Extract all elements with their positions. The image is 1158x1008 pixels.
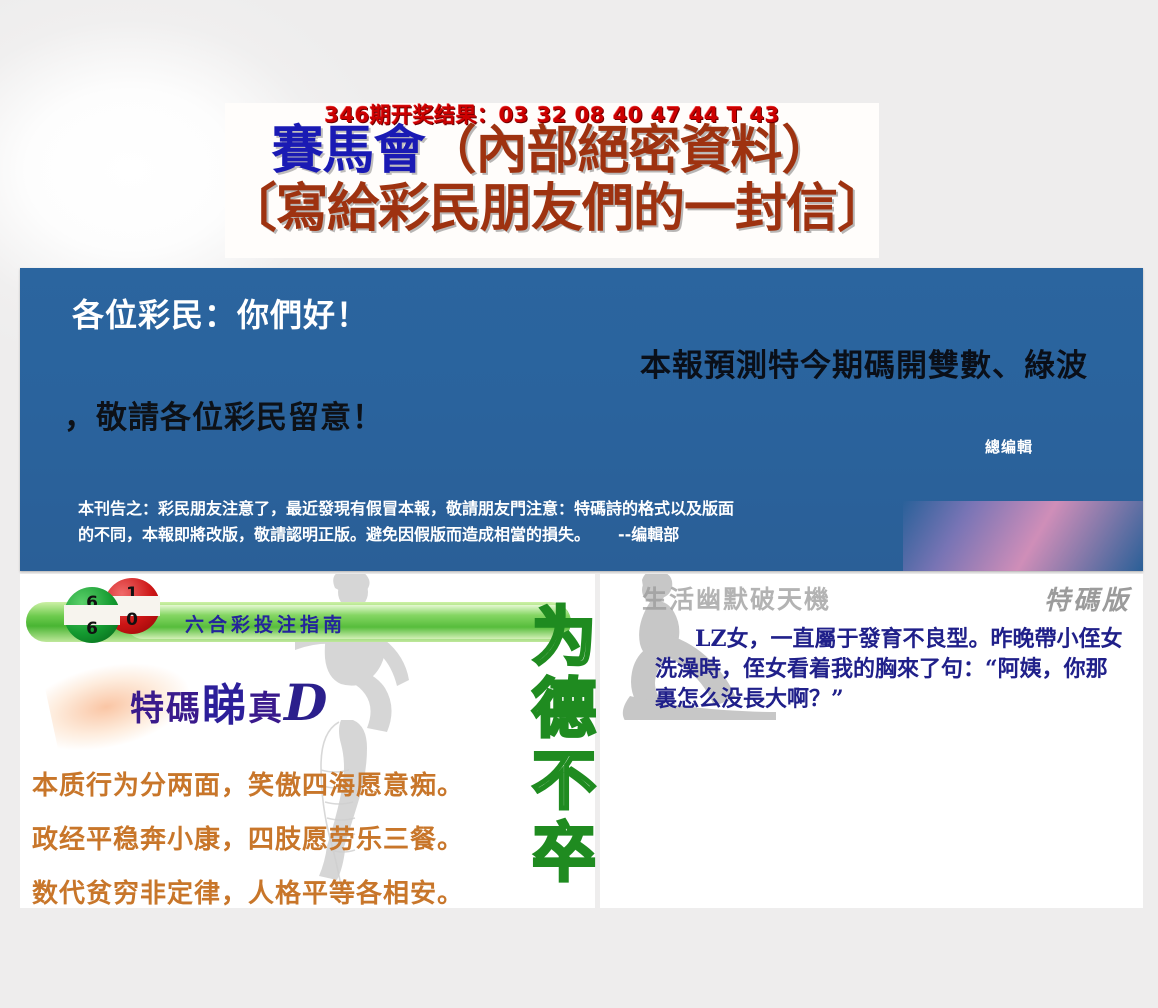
betting-guide-label: 六合彩投注指南 (185, 610, 346, 637)
letter-notice: 本刊告之：彩民朋友注意了，最近發現有假冒本報，敬請朋友門注意：特碼詩的格式以及版… (78, 496, 1118, 548)
poster-page: 346期开奖结果：03 32 08 40 47 44 T 43 賽馬會（內部絕密… (0, 0, 1158, 1008)
brand-mid-char: 真 (248, 689, 284, 729)
poem-line: 政经平稳奔小康，四肢愿劳乐三餐。 (32, 813, 552, 867)
notice-line-2: 的不同，本報即將改版，敬請認明正版。避免因假版而造成相當的損失。 (78, 525, 590, 544)
poem-line: 数代贫穷非定律，人格平等各相安。 (32, 867, 552, 908)
vertical-slogan-char: 不 (528, 746, 600, 818)
headline-title-blue: 賽馬會 (271, 121, 424, 181)
letter-signature: 總编輯 (985, 436, 1033, 457)
lottery-result-line: 346期开奖结果：03 32 08 40 47 44 T 43 (225, 99, 879, 129)
vertical-slogan-char: 为 (528, 602, 600, 674)
edition-label: 特碼版 (1044, 580, 1131, 617)
notice-department: --编輯部 (618, 525, 679, 544)
letter-greeting: 各位彩民：你們好！ (72, 290, 369, 336)
letter-attention: ，敬請各位彩民留意！ (64, 392, 384, 437)
humor-card: 生活幽默破天機 特碼版 LZ女，一直屬于發育不良型。昨晚帶小侄女洗澡時，侄女看着… (600, 574, 1143, 908)
brand-lockup: 特碼睇真D (130, 669, 329, 733)
notice-line-2-wrap: 的不同，本報即將改版，敬請認明正版。避免因假版而造成相當的損失。--编輯部 (78, 522, 1118, 548)
headline-title-row: 賽馬會（內部絕密資料） (225, 125, 879, 177)
brand-dee-letter: D (284, 673, 329, 732)
headline-title-red: （內部絕密資料） (425, 121, 833, 181)
vertical-slogan: 为 德 不 卒 (528, 602, 600, 890)
humor-body-text: LZ女，一直屬于發育不良型。昨晚帶小侄女洗澡時，侄女看着我的胸來了句：“阿姨，你… (655, 624, 1125, 714)
poem-line: 本质行为分两面，笑傲四海愿意痴。 (32, 759, 552, 813)
editor-letter-panel: 各位彩民：你們好！ 本報預測特今期碼開雙數、綠波 ，敬請各位彩民留意！ 總编輯 … (20, 268, 1143, 571)
letter-forecast: 本報預測特今期碼開雙數、綠波 (640, 340, 1088, 385)
notice-line-1: 本刊告之：彩民朋友注意了，最近發現有假冒本報，敬請朋友門注意：特碼詩的格式以及版… (78, 496, 1118, 522)
brand-big-char: 睇 (202, 680, 248, 731)
vertical-slogan-char: 卒 (528, 818, 600, 890)
brand-prefix: 特碼 (130, 689, 202, 729)
humor-section-title: 生活幽默破天機 (642, 580, 831, 616)
poem-block: 本质行为分两面，笑傲四海愿意痴。 政经平稳奔小康，四肢愿劳乐三餐。 数代贫穷非定… (32, 759, 552, 908)
ball-green-bottom-number: 6 (64, 619, 120, 639)
headline-subtitle: 〔寫給彩民朋友們的一封信〕 (225, 183, 879, 235)
lottery-ball-green: 6 6 (64, 587, 120, 643)
vertical-slogan-char: 德 (528, 674, 600, 746)
betting-guide-card: 1 0 6 6 六合彩投注指南 特碼睇真D 本质行为分两面，笑傲四海愿意痴。 政… (20, 574, 595, 908)
